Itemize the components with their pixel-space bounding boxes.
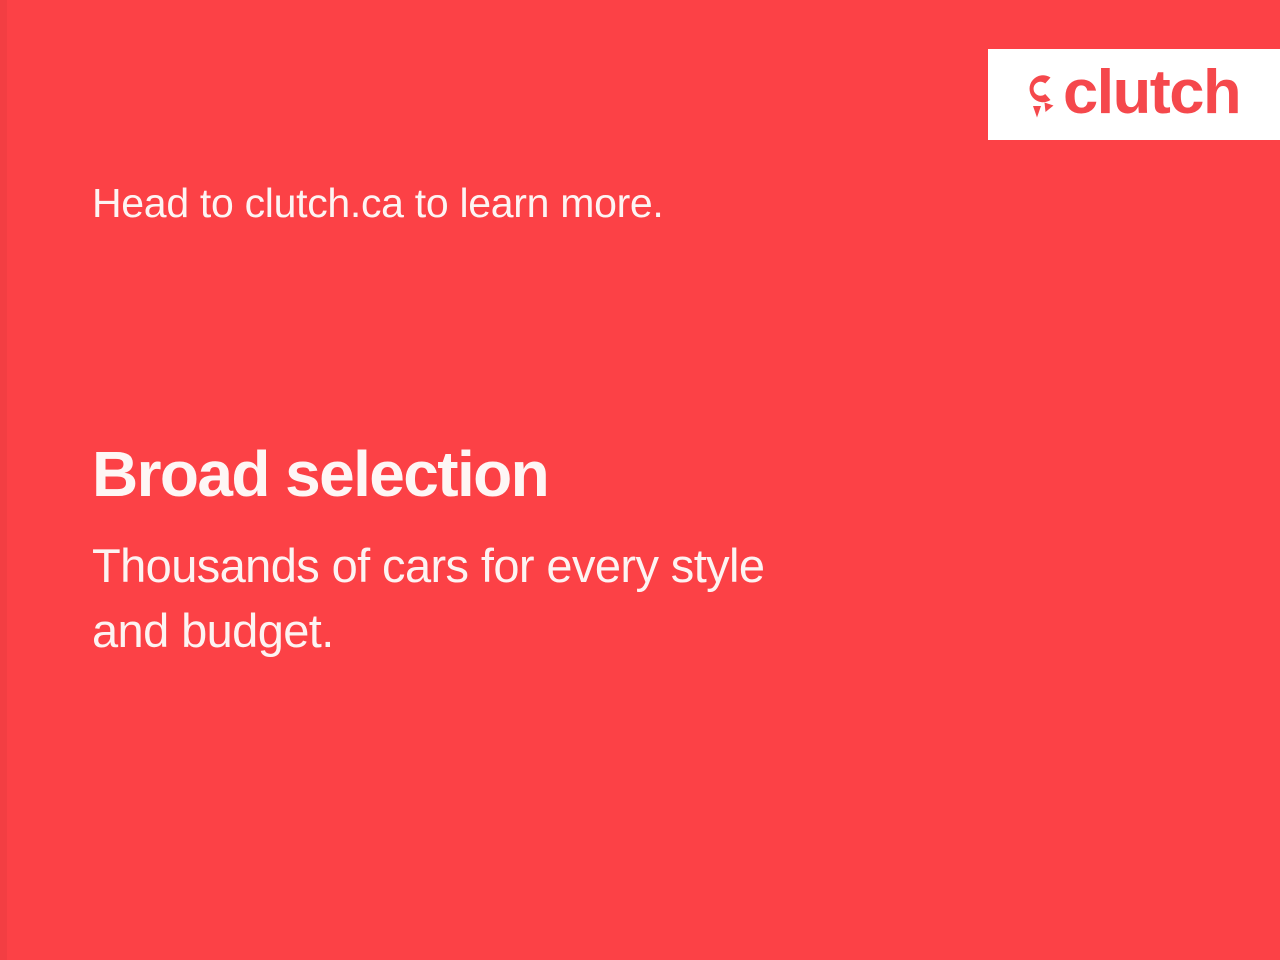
copy-block: Broad selection Thousands of cars for ev… — [92, 440, 1072, 664]
page-title: Broad selection — [92, 440, 1072, 509]
left-edge-shading — [0, 0, 7, 960]
kicker-text: Head to clutch.ca to learn more. — [92, 181, 664, 226]
subhead-text: Thousands of cars for every style and bu… — [92, 534, 1027, 664]
brand-logo-plate[interactable]: clutch — [988, 49, 1280, 140]
subhead-line: Thousands of cars for every style — [92, 534, 1027, 599]
brand-logo-lockup: clutch — [1020, 66, 1237, 124]
brand-wordmark: clutch — [1063, 62, 1240, 124]
clutch-c-mark-icon — [1020, 68, 1061, 121]
subhead-line: and budget. — [92, 599, 1027, 664]
slide-canvas: { "slide": { "background_color": "#FC414… — [0, 0, 1280, 960]
